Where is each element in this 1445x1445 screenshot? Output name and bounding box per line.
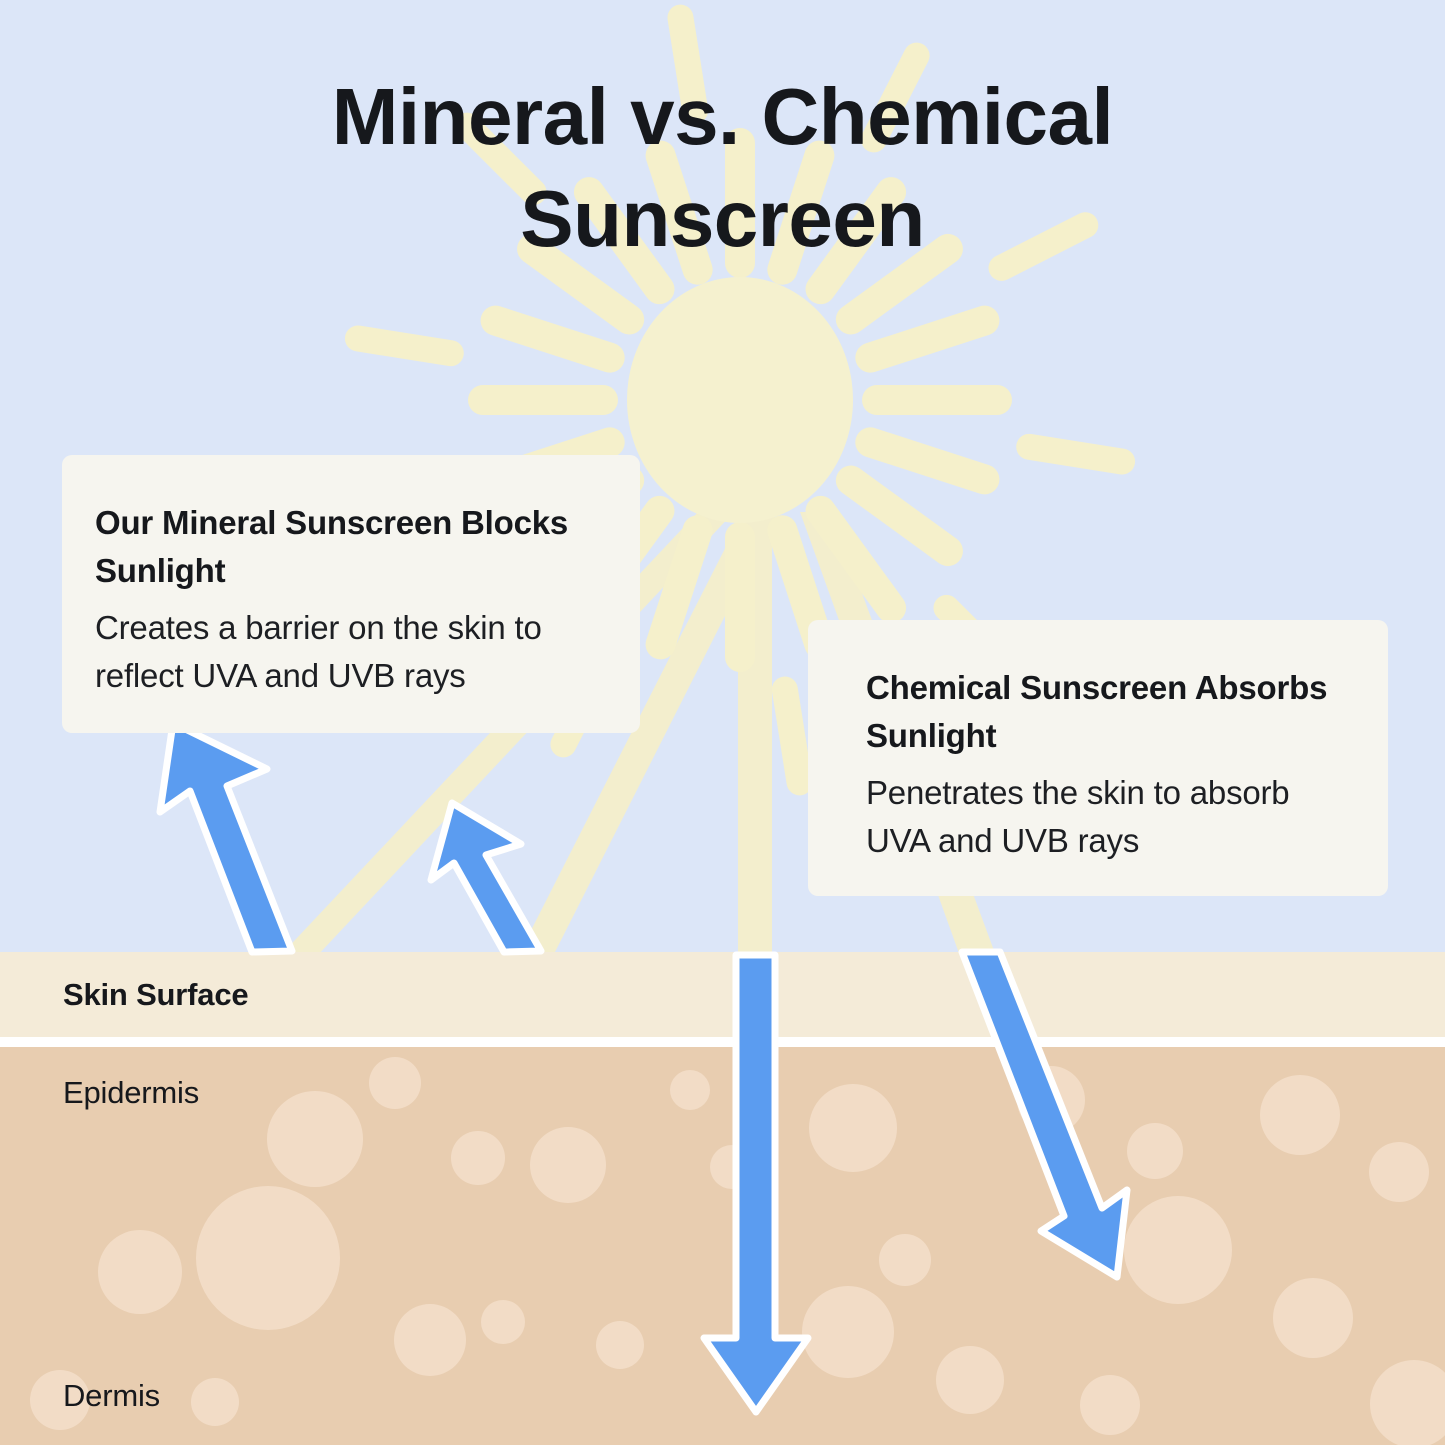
callout-mineral-heading: Our Mineral Sunscreen Blocks Sunlight — [95, 499, 606, 595]
skin-surface-divider — [0, 1037, 1445, 1047]
label-skin-surface: Skin Surface — [63, 977, 248, 1013]
page-title: Mineral vs. Chemical Sunscreen — [180, 66, 1265, 271]
sunscreen-infographic: Mineral vs. Chemical Sunscreen Our Miner… — [0, 0, 1445, 1445]
callout-mineral-body: Creates a barrier on the skin to reflect… — [95, 604, 606, 698]
callout-chemical-body: Penetrates the skin to absorb UVA and UV… — [866, 769, 1354, 863]
callout-chemical-heading: Chemical Sunscreen Absorbs Sunlight — [866, 664, 1354, 760]
label-dermis: Dermis — [63, 1378, 160, 1414]
callout-mineral-sunscreen: Our Mineral Sunscreen Blocks Sunlight Cr… — [62, 455, 640, 733]
callout-chemical-sunscreen: Chemical Sunscreen Absorbs Sunlight Pene… — [808, 620, 1388, 896]
label-epidermis: Epidermis — [63, 1075, 199, 1111]
sun-disc — [627, 277, 853, 523]
